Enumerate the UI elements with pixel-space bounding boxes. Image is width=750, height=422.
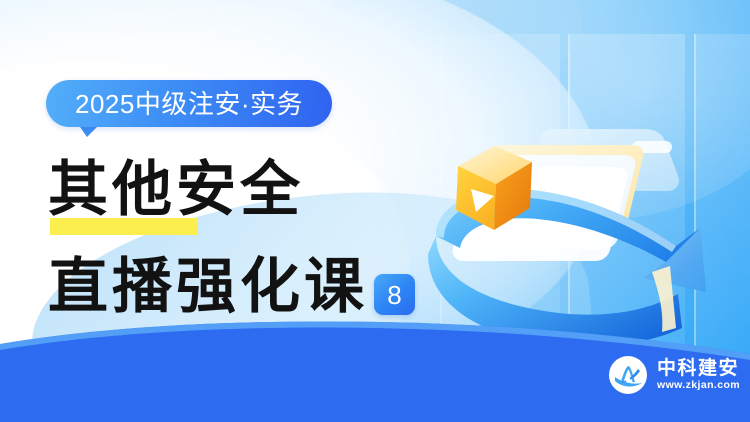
headline-line2: 直播强化课 <box>48 252 368 322</box>
logo-brand-name: 中科建安 <box>657 359 740 378</box>
headline-line1: 其他安全 <box>48 154 478 226</box>
episode-number-label: 8 <box>387 282 401 308</box>
logo-website: www.zkjan.com <box>657 380 740 391</box>
headline-line1-row: 其他安全 <box>48 154 478 226</box>
headline-line2-row: 直播强化课 8 <box>48 248 478 322</box>
category-badge[interactable]: 2025中级注安·实务 <box>46 80 332 127</box>
course-promo-banner: 2025中级注安·实务 其他安全 直播强化课 8 中科建安 www.zkjan.… <box>0 0 750 422</box>
logo-text-block: 中科建安 www.zkjan.com <box>657 359 740 391</box>
episode-number-badge: 8 <box>374 274 415 315</box>
headline-block: 其他安全 直播强化课 8 <box>48 154 478 322</box>
logo-mark-icon <box>608 355 648 395</box>
brand-logo[interactable]: 中科建安 www.zkjan.com <box>608 355 740 395</box>
category-badge-label: 2025中级注安·实务 <box>75 91 303 117</box>
